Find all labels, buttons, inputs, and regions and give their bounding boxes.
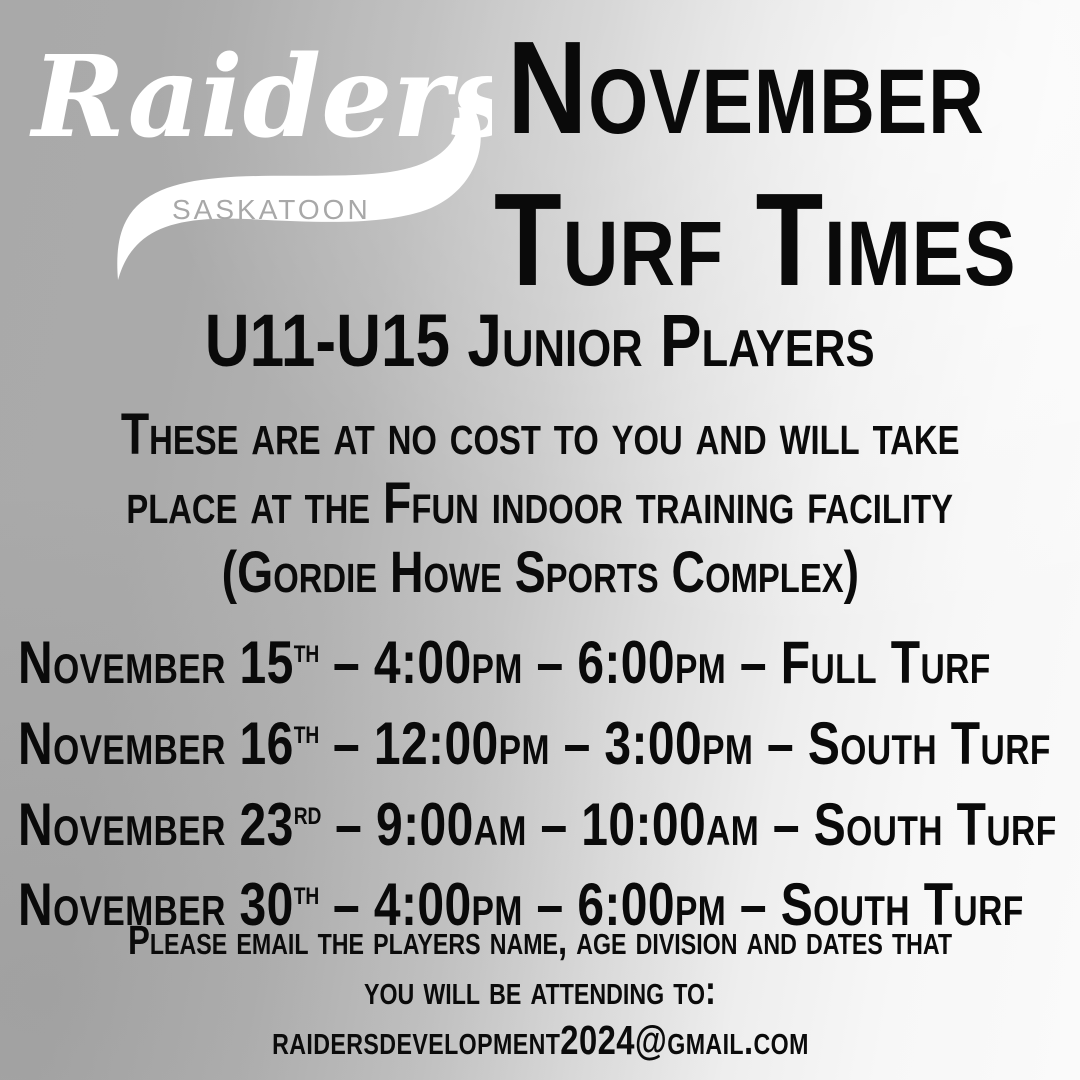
schedule-end-time: 3:00pm — [604, 710, 753, 777]
title-line-2: Turf Times — [494, 164, 998, 316]
schedule-ordinal: rd — [294, 795, 322, 832]
schedule-row: November 16th – 12:00pm – 3:00pm – South… — [18, 698, 853, 779]
description-block: These are at no cost to you and will tak… — [0, 400, 1080, 607]
schedule-ordinal: th — [294, 633, 320, 670]
schedule-ordinal: th — [294, 714, 320, 751]
schedule-separator: – — [319, 710, 374, 777]
schedule-date: November 16 — [18, 710, 294, 777]
schedule-location: South Turf — [808, 710, 1051, 777]
description-line-1: These are at no cost to you and will tak… — [121, 400, 960, 469]
contact-line-2: you will be attending to: — [364, 965, 716, 1015]
schedule-separator: – — [759, 790, 814, 857]
schedule-start-time: 12:00pm — [374, 710, 550, 777]
schedule-separator: – — [527, 790, 582, 857]
logo-city-text: SASKATOON — [172, 194, 371, 225]
schedule-date: November 23 — [18, 790, 294, 857]
schedule-start-time: 4:00pm — [374, 629, 523, 696]
schedule-separator: – — [523, 629, 578, 696]
schedule-list: November 15th – 4:00pm – 6:00pm – Full T… — [18, 617, 1062, 940]
schedule-start-time: 9:00am — [376, 790, 527, 857]
schedule-separator: – — [726, 629, 781, 696]
schedule-date: November 15 — [18, 629, 294, 696]
contact-block: Please email the players name, age divis… — [0, 915, 1080, 1065]
schedule-separator: – — [319, 629, 374, 696]
schedule-row: November 23rd – 9:00am – 10:00am – South… — [18, 779, 853, 860]
schedule-separator: – — [550, 710, 605, 777]
schedule-location: South Turf — [814, 790, 1057, 857]
schedule-ordinal: th — [294, 875, 320, 912]
contact-email: raidersdevelopment2024@gmail.com — [272, 1015, 809, 1065]
raiders-saskatoon-logo: Raiders SASKATOON — [22, 14, 492, 284]
schedule-end-time: 10:00am — [581, 790, 759, 857]
title-line-1: November — [494, 12, 998, 164]
contact-line-1: Please email the players name, age divis… — [128, 915, 952, 965]
schedule-row: November 15th – 4:00pm – 6:00pm – Full T… — [18, 617, 853, 698]
schedule-end-time: 6:00pm — [577, 629, 726, 696]
page-title: November Turf Times — [446, 12, 1046, 316]
schedule-separator: – — [753, 710, 808, 777]
description-line-3: (Gordie Howe Sports Complex) — [221, 538, 858, 607]
poster-canvas: Raiders SASKATOON November Turf Times U1… — [0, 0, 1080, 1080]
description-line-2: place at the Ffun indoor training facili… — [127, 469, 954, 538]
schedule-separator: – — [321, 790, 376, 857]
schedule-location: Full Turf — [781, 629, 991, 696]
logo-script-text: Raiders — [29, 32, 492, 163]
